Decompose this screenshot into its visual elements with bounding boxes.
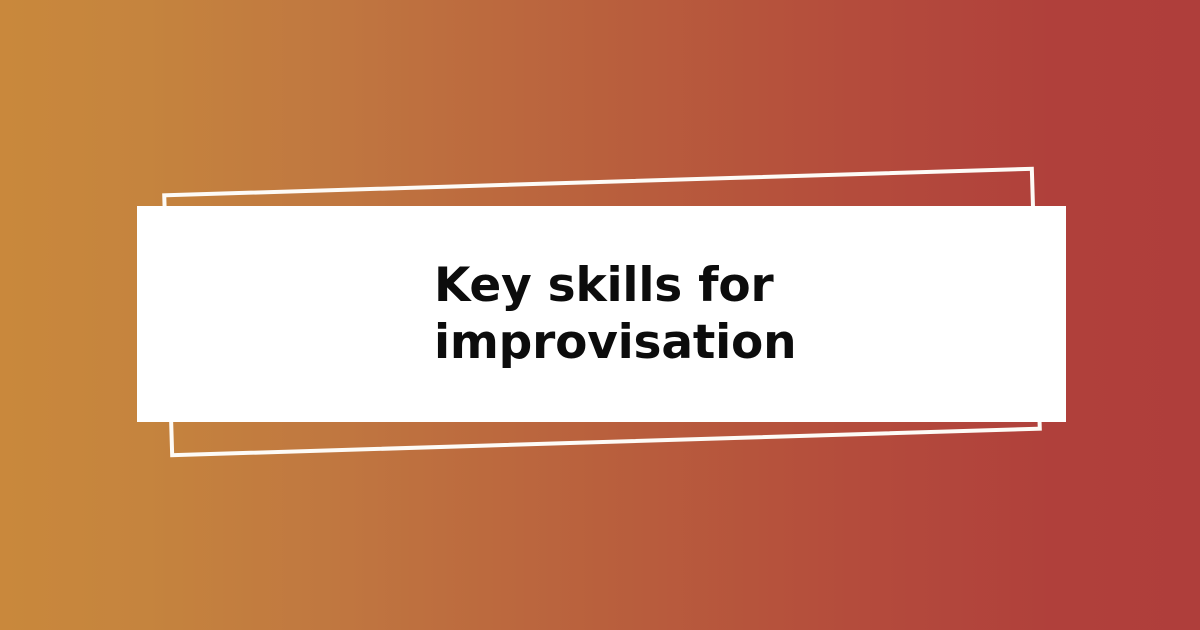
headline-card-content: Key skills for improvisation — [137, 206, 1066, 422]
poster-canvas: Key skills for improvisation — [0, 0, 1200, 630]
headline-card: Key skills for improvisation — [137, 206, 1066, 422]
page-title: Key skills for improvisation — [434, 257, 1026, 371]
